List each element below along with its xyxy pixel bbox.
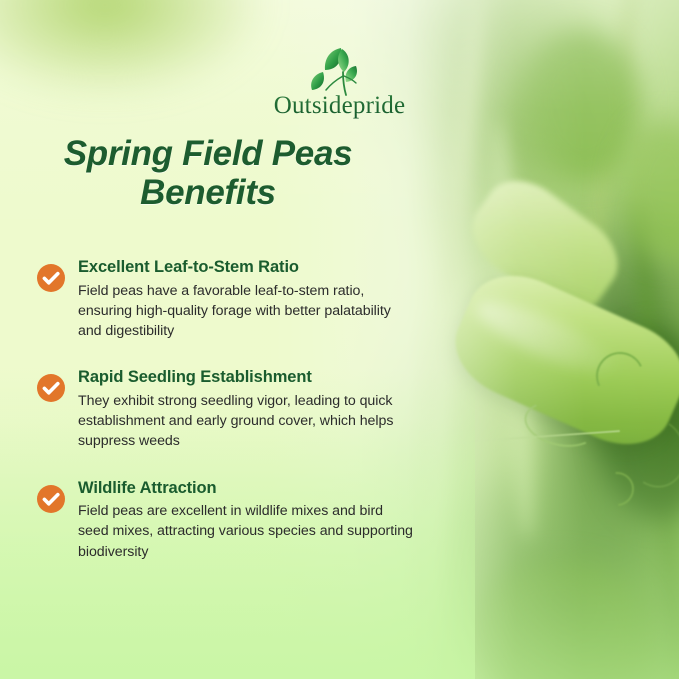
list-item-text: Excellent Leaf-to-Stem Ratio Field peas … xyxy=(78,258,416,341)
benefit-title: Rapid Seedling Establishment xyxy=(78,368,416,388)
list-item: Rapid Seedling Establishment They exhibi… xyxy=(36,368,416,451)
leaf-sprout-icon xyxy=(303,42,377,96)
benefit-title: Excellent Leaf-to-Stem Ratio xyxy=(78,258,416,278)
benefit-description: Field peas have a favorable leaf-to-stem… xyxy=(78,281,416,341)
list-item-text: Wildlife Attraction Field peas are excel… xyxy=(78,479,416,562)
infographic-card: Outsidepride Spring Field Peas Benefits … xyxy=(0,0,679,679)
brand-name: Outsidepride xyxy=(274,92,406,120)
content-area: Outsidepride Spring Field Peas Benefits … xyxy=(0,0,679,679)
benefit-description: Field peas are excellent in wildlife mix… xyxy=(78,501,416,561)
benefit-description: They exhibit strong seedling vigor, lead… xyxy=(78,391,416,451)
check-circle-icon xyxy=(36,373,66,403)
check-circle-icon xyxy=(36,484,66,514)
title-line-1: Spring Field Peas xyxy=(30,134,386,173)
benefits-list: Excellent Leaf-to-Stem Ratio Field peas … xyxy=(36,258,416,562)
check-circle-icon xyxy=(36,263,66,293)
benefit-title: Wildlife Attraction xyxy=(78,479,416,499)
list-item: Excellent Leaf-to-Stem Ratio Field peas … xyxy=(36,258,416,341)
list-item: Wildlife Attraction Field peas are excel… xyxy=(36,479,416,562)
page-title: Spring Field Peas Benefits xyxy=(30,134,386,212)
list-item-text: Rapid Seedling Establishment They exhibi… xyxy=(78,368,416,451)
title-line-2: Benefits xyxy=(30,173,386,212)
brand-logo: Outsidepride xyxy=(0,42,679,120)
